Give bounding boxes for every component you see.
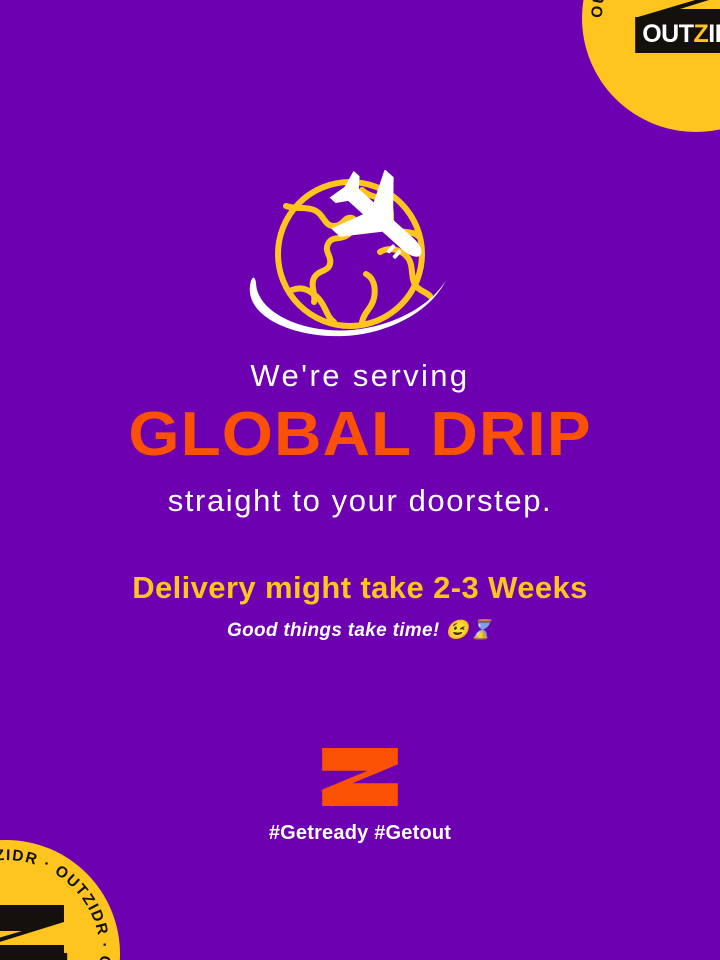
hero-illustration [0, 170, 720, 345]
delivery-estimate-text: Delivery might take 2-3 Weeks [0, 570, 720, 606]
subline-text: straight to your doorstep. [0, 483, 720, 519]
badge-wordmark: OUTZIDR [635, 17, 720, 53]
brand-badge-bottom-left: OUTZIDR · OUTZIDR · OUTZIDR · OUTZIDR · … [0, 840, 120, 960]
brand-badge-top-right: OUTZIDR · OUTZIDR · OUTZIDR · OUTZIDR · … [582, 0, 720, 132]
badge-core: OUTZIDR [0, 879, 81, 960]
badge-wordmark-post: IDR [708, 22, 720, 47]
badge-wordmark-z: Z [693, 22, 708, 47]
badge-wordmark: OUTZIDR [0, 953, 67, 960]
airplane-icon [315, 170, 447, 285]
eyebrow-text: We're serving [0, 358, 720, 394]
z-monogram-icon [0, 905, 70, 960]
poster-canvas: OUTZIDR · OUTZIDR · OUTZIDR · OUTZIDR · … [0, 0, 720, 960]
hashtags-text: #Getready #Getout [0, 822, 720, 845]
copy-block: We're serving GLOBAL DRIP straight to yo… [0, 358, 720, 643]
z-monogram-icon [319, 748, 401, 806]
badge-wordmark-pre: OUT [642, 22, 693, 47]
globe-airplane-icon [240, 170, 480, 345]
tagline-text: Good things take time! 😉⌛ [0, 620, 720, 643]
badge-core: OUTZIDR [621, 0, 720, 93]
headline-text: GLOBAL DRIP [0, 402, 720, 467]
footer-lockup: #Getready #Getout [0, 748, 720, 845]
